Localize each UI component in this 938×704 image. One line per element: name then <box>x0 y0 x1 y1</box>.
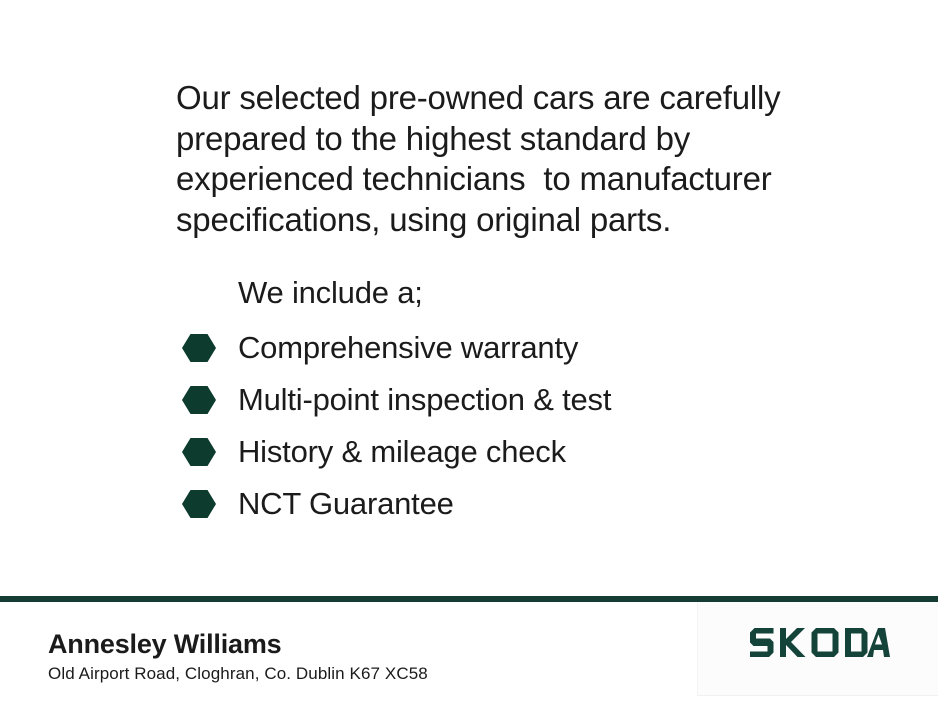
list-item: History & mileage check <box>176 426 876 478</box>
list-item-label: History & mileage check <box>238 435 566 469</box>
list-item-label: Multi-point inspection & test <box>238 383 611 417</box>
dealer-address: Old Airport Road, Cloghran, Co. Dublin K… <box>48 663 428 685</box>
list-item-label: NCT Guarantee <box>238 487 454 521</box>
inclusions-list: Comprehensive warranty Multi-point inspe… <box>176 322 876 530</box>
include-lead-text: We include a; <box>238 272 423 314</box>
promotional-slide: Our selected pre-owned cars are carefull… <box>0 0 938 704</box>
skoda-wordmark-logo <box>749 628 890 657</box>
intro-paragraph: Our selected pre-owned cars are carefull… <box>176 78 796 240</box>
list-item: Multi-point inspection & test <box>176 374 876 426</box>
list-item: Comprehensive warranty <box>176 322 876 374</box>
list-item: NCT Guarantee <box>176 478 876 530</box>
hexagon-bullet-icon <box>182 386 216 414</box>
hexagon-bullet-icon <box>182 490 216 518</box>
list-item-label: Comprehensive warranty <box>238 331 578 365</box>
hexagon-bullet-icon <box>182 438 216 466</box>
hexagon-bullet-icon <box>182 334 216 362</box>
dealer-name: Annesley Williams <box>48 628 281 660</box>
